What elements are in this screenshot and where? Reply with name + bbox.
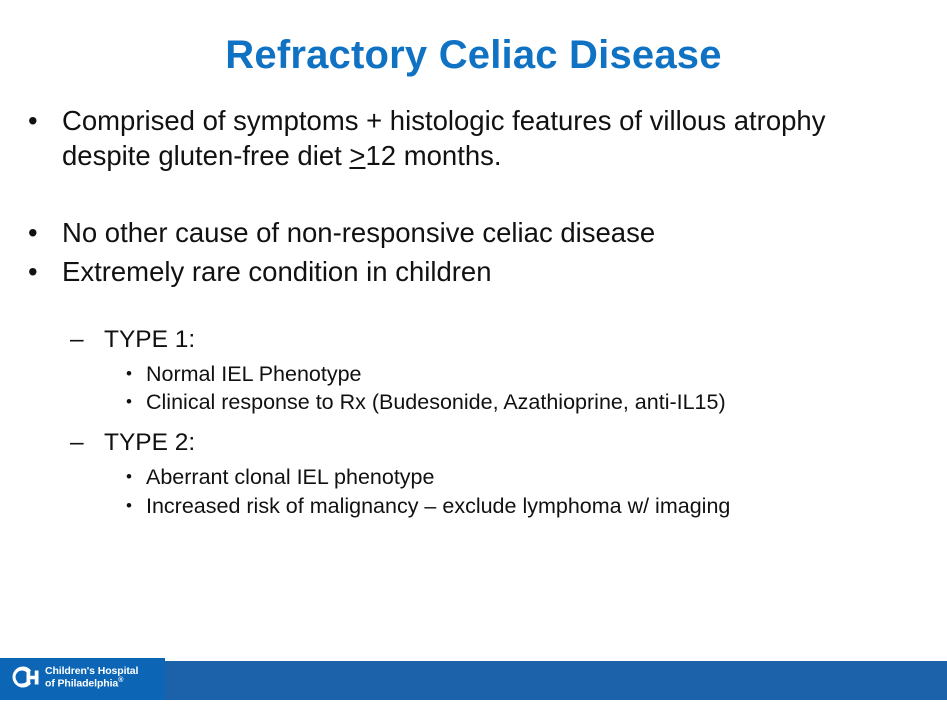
bullet-item-comprised: • Comprised of symptoms + histologic fea… (0, 104, 947, 174)
bullet-text-line1: Comprised of symptoms + histologic featu… (62, 105, 825, 136)
bullet-text: No other cause of non-responsive celiac … (62, 217, 655, 248)
bullet-marker-icon: • (126, 388, 132, 417)
sub-sub-bullet-aberrant-clonal: • Aberrant clonal IEL phenotype (0, 463, 947, 492)
bullet-text-line2-suffix: 12 months. (365, 140, 501, 171)
sub-sub-bullet-increased-risk: • Increased risk of malignancy – exclude… (0, 492, 947, 521)
spacer (0, 174, 947, 216)
bullet-text: Extremely rare condition in children (62, 256, 492, 287)
registered-trademark-icon: ® (118, 677, 123, 684)
sub-sub-bullet-normal-iel: • Normal IEL Phenotype (0, 360, 947, 389)
sub-sub-bullet-text: Increased risk of malignancy – exclude l… (146, 494, 730, 518)
sub-sub-bullet-text: Clinical response to Rx (Budesonide, Aza… (146, 390, 726, 414)
slide-canvas: Refractory Celiac Disease • Comprised of… (0, 0, 947, 708)
sub-bullet-text: TYPE 2: (104, 429, 195, 456)
bullet-marker-icon: • (126, 463, 132, 492)
sub-sub-bullet-text: Aberrant clonal IEL phenotype (146, 465, 434, 489)
dash-marker-icon: – (70, 324, 84, 356)
spacer (0, 417, 947, 427)
page-title: Refractory Celiac Disease (0, 32, 947, 78)
bullet-marker-icon: • (126, 360, 132, 389)
bullet-item-extremely-rare: • Extremely rare condition in children (0, 255, 947, 290)
bullet-marker-icon: • (28, 104, 38, 139)
bullet-item-no-other-cause: • No other cause of non-responsive celia… (0, 216, 947, 251)
sub-bullet-type-1: – TYPE 1: (0, 324, 947, 356)
chop-wordmark-line2-text: of Philadelphia (45, 678, 118, 690)
bullet-marker-icon: • (126, 492, 132, 521)
chop-logo-mark-icon (8, 664, 39, 691)
chop-logo: Children's Hospital of Philadelphia® (8, 664, 138, 691)
bullet-text-line2-prefix: despite gluten-free diet (62, 140, 349, 171)
spacer (0, 290, 947, 324)
bullet-marker-icon: • (28, 255, 38, 290)
dash-marker-icon: – (70, 427, 84, 459)
chop-wordmark-line1: Children's Hospital (45, 665, 138, 677)
sub-bullet-text: TYPE 1: (104, 326, 195, 353)
chop-wordmark-line2: of Philadelphia® (45, 677, 138, 690)
sub-sub-bullet-text: Normal IEL Phenotype (146, 362, 362, 386)
bullet-marker-icon: • (28, 216, 38, 251)
chop-wordmark: Children's Hospital of Philadelphia® (45, 665, 138, 690)
slide-body: • Comprised of symptoms + histologic fea… (0, 104, 947, 521)
greater-or-equal-mark: > (349, 140, 365, 171)
sub-sub-bullet-clinical-response: • Clinical response to Rx (Budesonide, A… (0, 388, 947, 417)
sub-bullet-type-2: – TYPE 2: (0, 427, 947, 459)
